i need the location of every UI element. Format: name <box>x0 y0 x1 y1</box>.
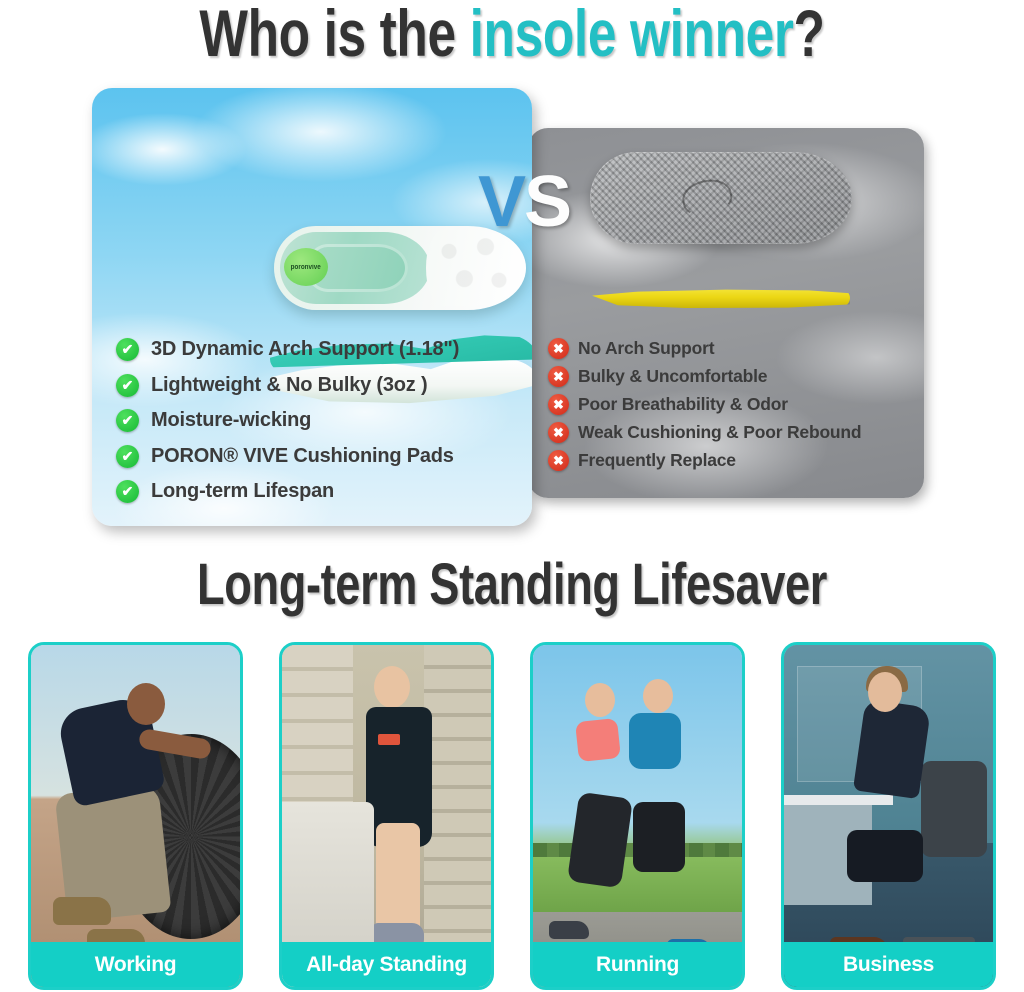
page-title: Who is the insole winner? <box>113 0 912 68</box>
drawback-item: ✖ Weak Cushioning & Poor Rebound <box>548 422 861 443</box>
check-icon: ✔ <box>116 338 139 361</box>
brand-logo-badge: poronvive <box>284 248 328 286</box>
tile-caption: Running <box>533 942 742 987</box>
competitor-insole-topview <box>590 152 852 244</box>
cross-icon: ✖ <box>548 450 569 471</box>
title-accent: insole winner <box>470 0 794 70</box>
office-chair <box>921 761 987 857</box>
drawback-label: No Arch Support <box>578 338 714 359</box>
drawback-label: Bulky & Uncomfortable <box>578 366 767 387</box>
running-shoe <box>549 921 589 939</box>
check-icon: ✔ <box>116 374 139 397</box>
check-icon: ✔ <box>116 445 139 468</box>
worker-boot <box>53 897 111 925</box>
feature-label: 3D Dynamic Arch Support (1.18") <box>151 338 459 361</box>
title-lead: Who is the <box>199 0 469 70</box>
cross-icon: ✖ <box>548 366 569 387</box>
female-runner-head <box>585 683 615 717</box>
male-runner-shirt <box>629 713 681 769</box>
cashier-head <box>374 666 410 708</box>
feature-label: Lightweight & No Bulky (3oz ) <box>151 374 427 397</box>
drawback-item: ✖ Poor Breathability & Odor <box>548 394 861 415</box>
photo-couple-jogging <box>533 645 742 987</box>
feature-item: ✔ PORON® VIVE Cushioning Pads <box>116 445 459 468</box>
cross-icon: ✖ <box>548 422 569 443</box>
cross-icon: ✖ <box>548 394 569 415</box>
female-runner-sports-bra <box>575 718 621 762</box>
feature-item: ✔ Lightweight & No Bulky (3oz ) <box>116 374 459 397</box>
use-case-gallery: Working All-day Standing <box>28 642 996 990</box>
use-case-tile-running[interactable]: Running <box>530 642 745 990</box>
competitor-drawback-list: ✖ No Arch Support ✖ Bulky & Uncomfortabl… <box>548 338 861 478</box>
desk-top <box>784 795 893 805</box>
feature-item: ✔ 3D Dynamic Arch Support (1.18") <box>116 338 459 361</box>
brand-logo-text: poronvive <box>291 264 321 271</box>
feature-item: ✔ Long-term Lifespan <box>116 480 459 503</box>
drawback-label: Weak Cushioning & Poor Rebound <box>578 422 861 443</box>
cashier-legs <box>376 823 420 933</box>
cashier-name-tag <box>378 734 400 745</box>
worker-head <box>127 683 165 725</box>
title-tail: ? <box>794 0 825 70</box>
photo-businessman-at-desk <box>784 645 993 987</box>
drawback-label: Frequently Replace <box>578 450 736 471</box>
product-feature-list: ✔ 3D Dynamic Arch Support (1.18") ✔ Ligh… <box>116 338 459 516</box>
store-shelf-right <box>424 645 491 987</box>
use-case-tile-business[interactable]: Business <box>781 642 996 990</box>
feature-label: Moisture-wicking <box>151 409 311 432</box>
drawback-label: Poor Breathability & Odor <box>578 394 788 415</box>
versus-letter-v: V <box>478 162 524 242</box>
businessman-head <box>868 672 902 712</box>
tile-caption: All-day Standing <box>282 942 491 987</box>
use-case-tile-working[interactable]: Working <box>28 642 243 990</box>
businessman-legs <box>847 830 923 882</box>
cross-icon: ✖ <box>548 338 569 359</box>
feature-label: PORON® VIVE Cushioning Pads <box>151 445 454 468</box>
feature-item: ✔ Moisture-wicking <box>116 409 459 432</box>
versus-badge: VS <box>478 166 570 238</box>
use-case-tile-all-day-standing[interactable]: All-day Standing <box>279 642 494 990</box>
tile-caption: Working <box>31 942 240 987</box>
feature-label: Long-term Lifespan <box>151 480 334 503</box>
photo-man-flipping-tire <box>31 645 240 987</box>
male-runner-shorts <box>633 802 685 872</box>
check-icon: ✔ <box>116 480 139 503</box>
drawback-item: ✖ Frequently Replace <box>548 450 861 471</box>
photo-cashier-at-counter <box>282 645 491 987</box>
versus-letter-s: S <box>524 162 570 242</box>
tile-caption: Business <box>784 942 993 987</box>
drawback-item: ✖ Bulky & Uncomfortable <box>548 366 861 387</box>
drawback-item: ✖ No Arch Support <box>548 338 861 359</box>
check-icon: ✔ <box>116 409 139 432</box>
section-heading: Long-term Standing Lifesaver <box>113 554 912 616</box>
businessman-suit <box>853 699 931 799</box>
male-runner-head <box>643 679 673 713</box>
competitor-insole-sideview <box>592 288 850 308</box>
